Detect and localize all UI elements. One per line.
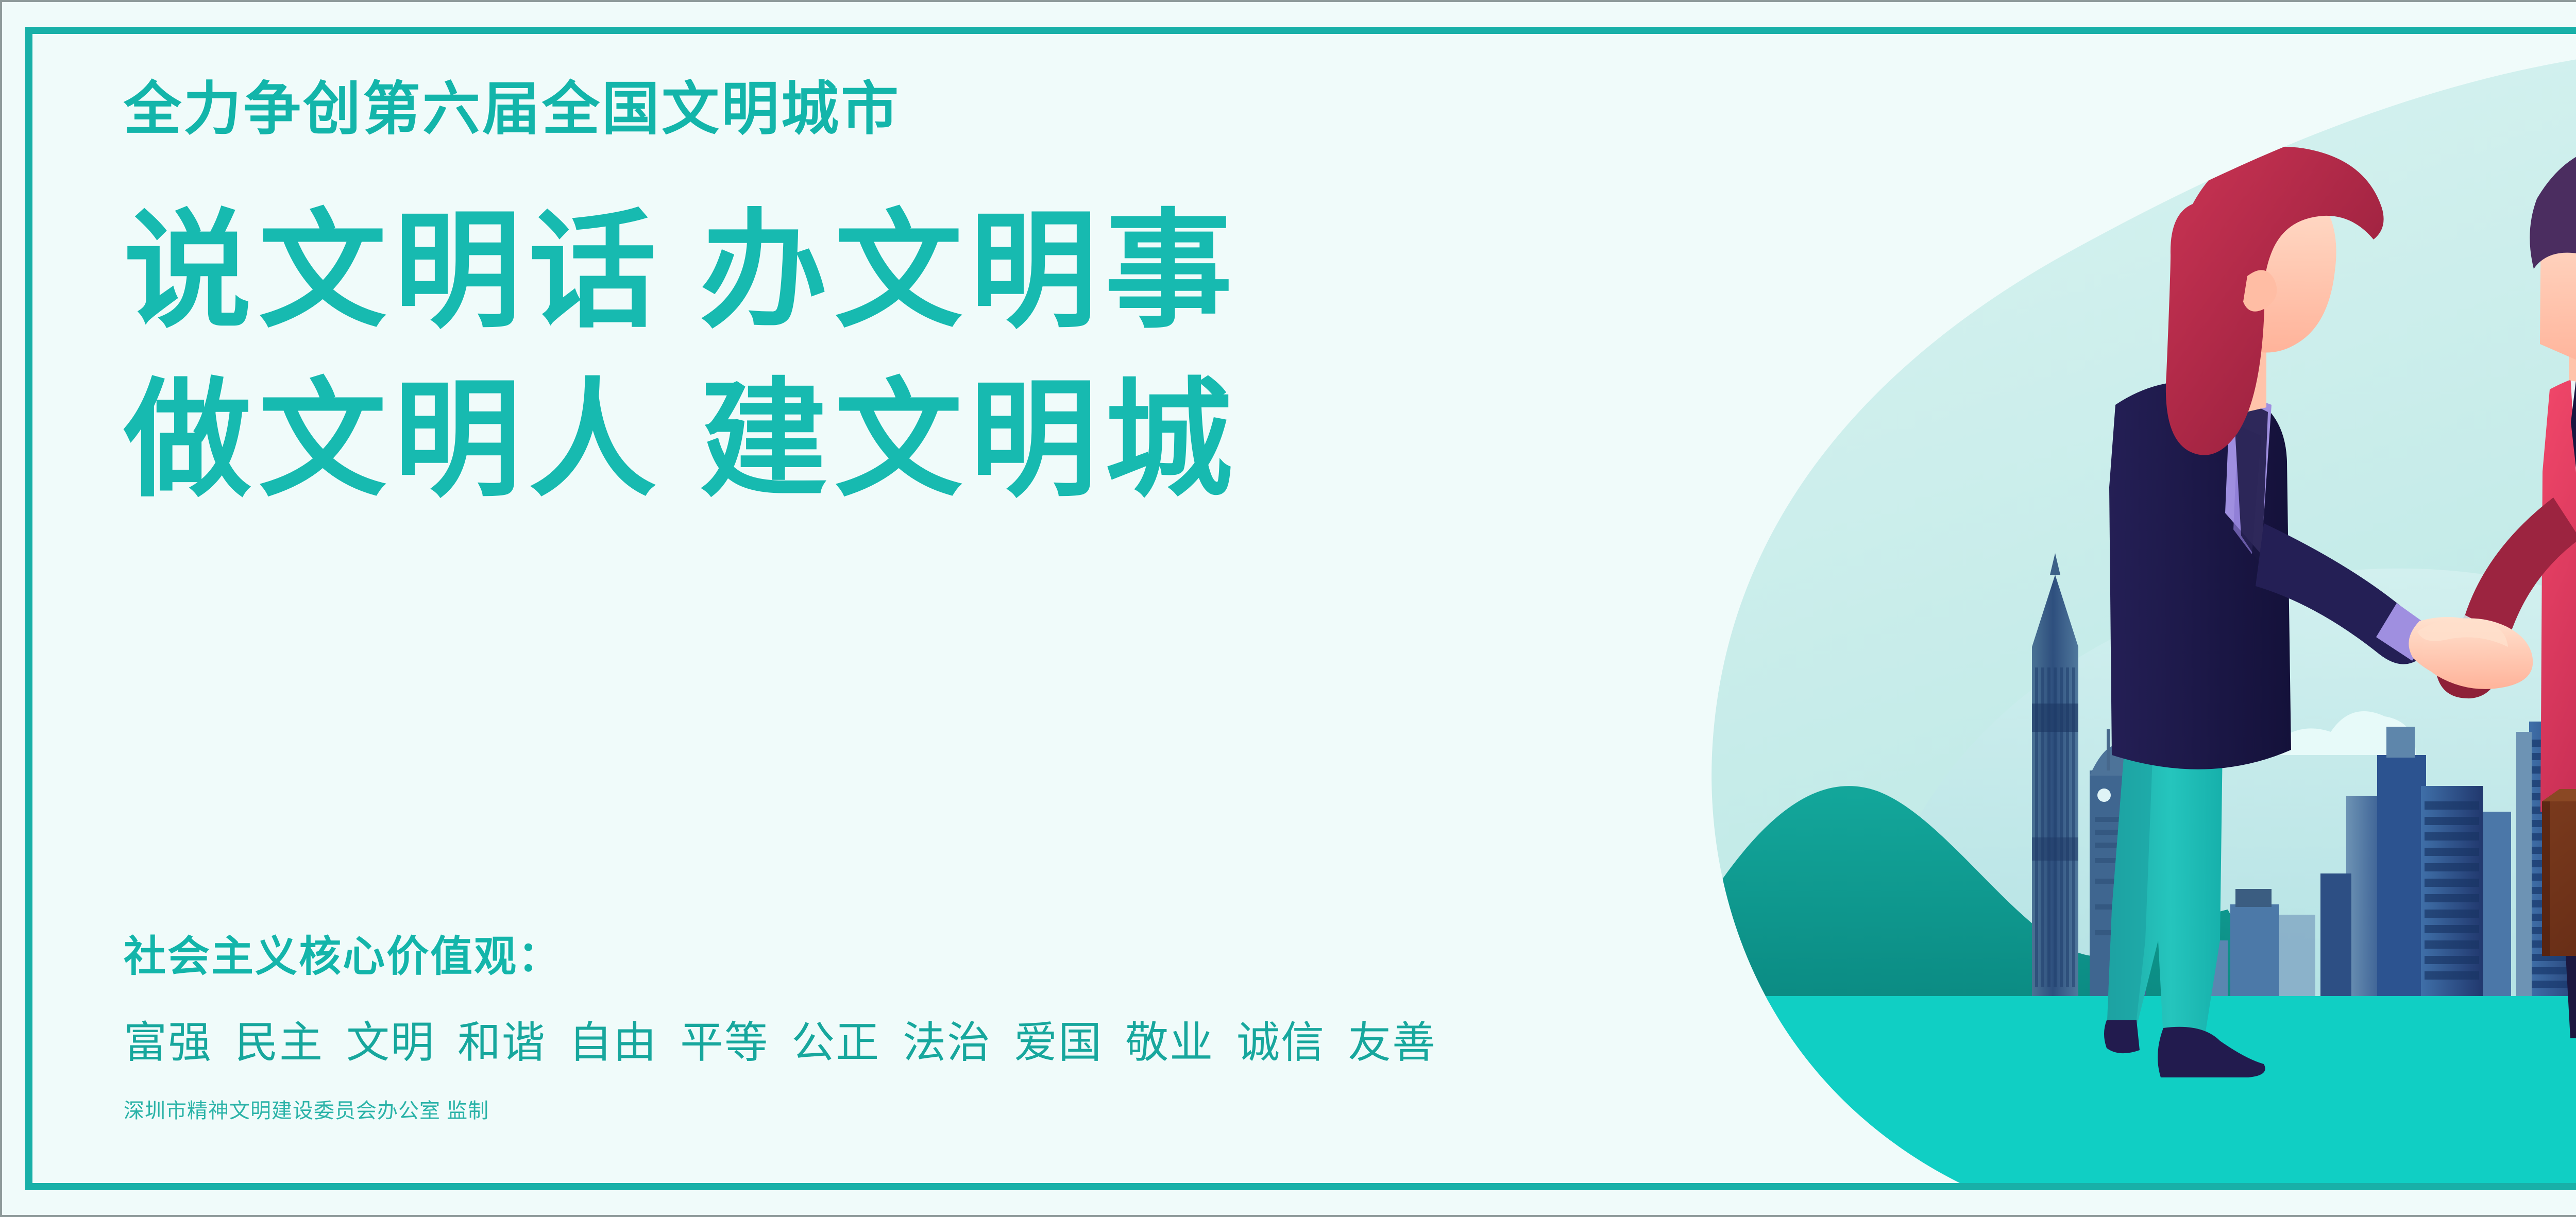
core-value-item: 友善 (1348, 1018, 1436, 1067)
man-suit-jacket (2540, 370, 2576, 823)
illustration-artwork (1671, 34, 2576, 1183)
headline-line2-part-a: 做文明人 (124, 368, 664, 511)
headline-line1-part-a: 说文明话 (124, 199, 664, 342)
headline-line1-part-b: 办文明事 (700, 199, 1240, 342)
core-value-item: 诚信 (1236, 1018, 1325, 1067)
headline-line-1: 说文明话办文明事 (124, 187, 1669, 355)
core-value-item: 平等 (680, 1018, 769, 1067)
credit-line: 深圳市精神文明建设委员会办公室 监制 (124, 1094, 1436, 1124)
text-column: 全力争创第六届全国文明城市 说文明话办文明事 做文明人建文明城 (124, 77, 1669, 524)
core-value-item: 法治 (903, 1018, 991, 1067)
core-value-item: 爱国 (1014, 1018, 1103, 1067)
core-value-item: 民主 (235, 1018, 324, 1067)
core-value-item: 文明 (346, 1018, 435, 1067)
core-values-block: 社会主义核心价值观： 富强民主文明和谐自由平等公正法治爱国敬业诚信友善 深圳市精… (124, 922, 1436, 1124)
core-value-item: 自由 (569, 1018, 657, 1067)
core-value-item: 和谐 (457, 1018, 546, 1067)
core-value-item: 公正 (791, 1018, 880, 1067)
woman-shoe-back (2104, 1020, 2140, 1053)
poster-canvas: 全力争创第六届全国文明城市 说文明话办文明事 做文明人建文明城 社会主义核心价值… (0, 0, 2576, 1217)
core-values-title: 社会主义核心价值观： (124, 922, 1436, 983)
core-values-list: 富强民主文明和谐自由平等公正法治爱国敬业诚信友善 (124, 1008, 1436, 1070)
headline-line-2: 做文明人建文明城 (124, 356, 1669, 524)
core-value-item: 富强 (124, 1018, 212, 1067)
headline-block: 说文明话办文明事 做文明人建文明城 (124, 187, 1669, 524)
eyebrow-slogan: 全力争创第六届全国文明城市 (124, 77, 1669, 141)
headline-line2-part-b: 建文明城 (700, 368, 1240, 511)
briefcase (2542, 777, 2576, 956)
core-value-item: 敬业 (1125, 1018, 1214, 1067)
